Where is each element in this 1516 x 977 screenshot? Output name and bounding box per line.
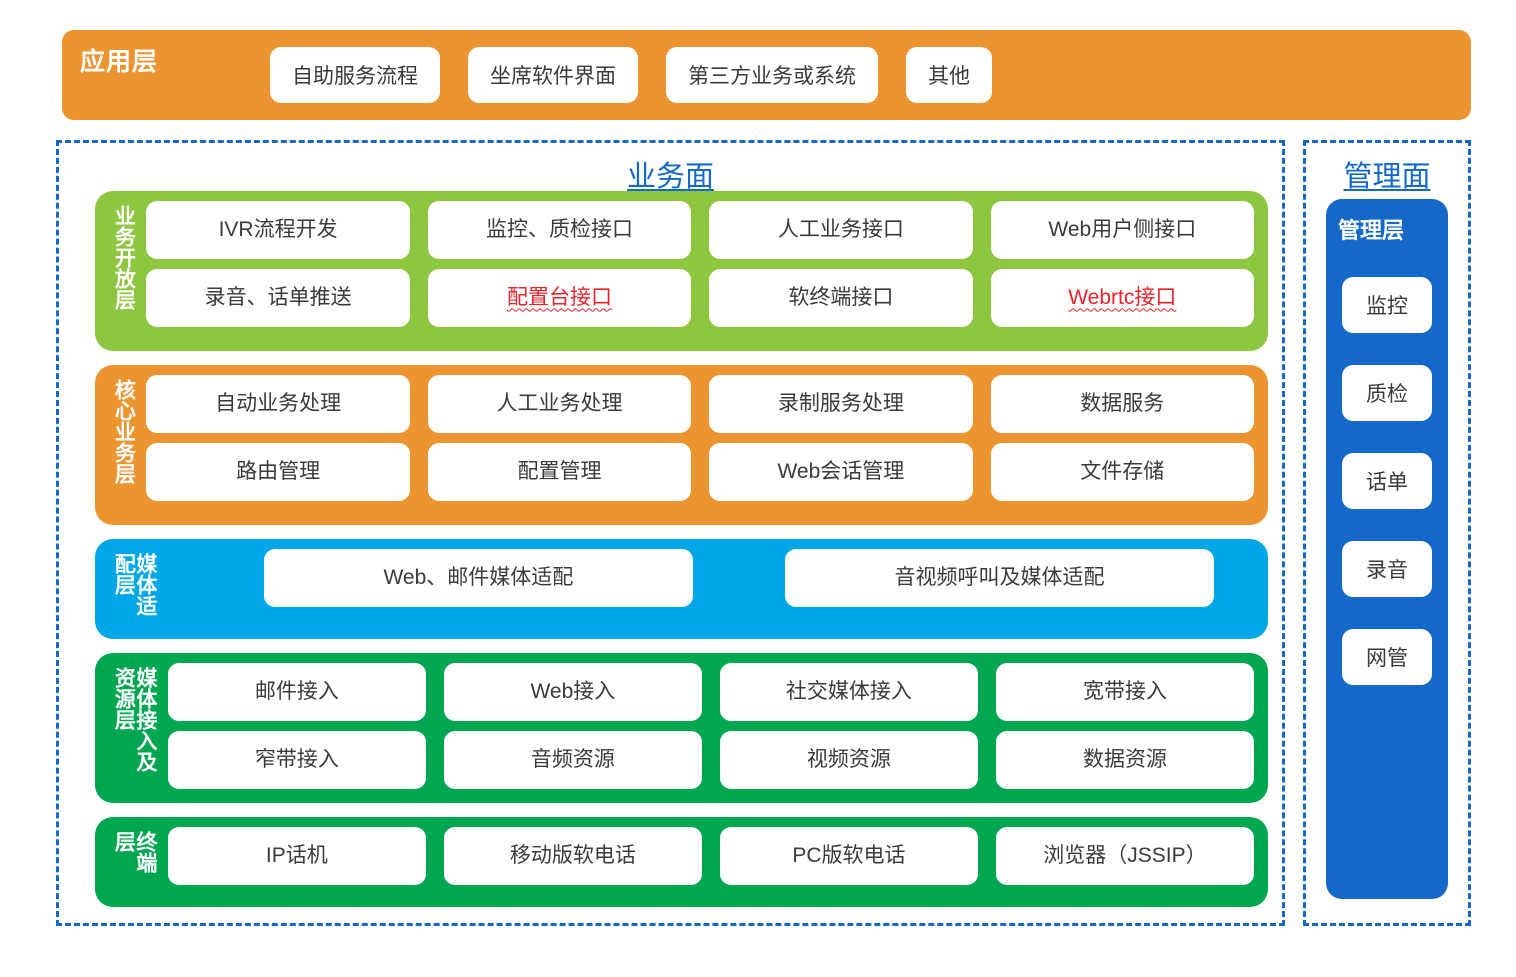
layer-core-business: 核心业务层 自动业务处理 人工业务处理 录制服务处理 数据服务 路由管理 配置管…: [95, 365, 1268, 525]
management-layer-box: 管理层 监控 质检 话单 录音 网管: [1326, 199, 1448, 899]
app-card-self-service[interactable]: 自助服务流程: [270, 47, 440, 103]
application-layer-band: 应用层 自助服务流程 坐席软件界面 第三方业务或系统 其他: [62, 30, 1471, 120]
cell-config-console-api[interactable]: 配置台接口: [428, 269, 691, 327]
cell-ip-phone[interactable]: IP话机: [168, 827, 426, 885]
business-plane-layers: 业务开放层 IVR流程开发 监控、质检接口 人工业务接口 Web用户侧接口 录音…: [95, 191, 1268, 907]
mgmt-item-recording[interactable]: 录音: [1342, 541, 1432, 597]
cell-web-mail-media-adaptation[interactable]: Web、邮件媒体适配: [264, 549, 693, 607]
cell-broadband-access[interactable]: 宽带接入: [996, 663, 1254, 721]
cell-recording-cdr-push[interactable]: 录音、话单推送: [146, 269, 409, 327]
cell-narrowband-access[interactable]: 窄带接入: [168, 731, 426, 789]
cell-social-media-access[interactable]: 社交媒体接入: [720, 663, 978, 721]
application-layer-cards: 自助服务流程 坐席软件界面 第三方业务或系统 其他: [270, 47, 992, 103]
app-card-other[interactable]: 其他: [906, 47, 992, 103]
management-plane-title: 管理面: [1306, 153, 1468, 195]
layer-label-terminal: 终端层: [103, 827, 162, 897]
cell-mobile-softphone[interactable]: 移动版软电话: [444, 827, 702, 885]
cell-monitor-qc-api[interactable]: 监控、质检接口: [428, 201, 691, 259]
management-items-list: 监控 质检 话单 录音 网管: [1326, 277, 1448, 685]
cell-pc-softphone[interactable]: PC版软电话: [720, 827, 978, 885]
cell-config-management[interactable]: 配置管理: [428, 443, 691, 501]
cell-data-resource[interactable]: 数据资源: [996, 731, 1254, 789]
layer-label-core-business: 核心业务层: [103, 375, 140, 515]
mgmt-item-cdr[interactable]: 话单: [1342, 453, 1432, 509]
layer-terminal: 终端层 IP话机 移动版软电话 PC版软电话 浏览器（JSSIP）: [95, 817, 1268, 907]
layer-media-adaptation: 媒体适配层 Web、邮件媒体适配 音视频呼叫及媒体适配: [95, 539, 1268, 639]
layer-grid-media-adaptation: Web、邮件媒体适配 音视频呼叫及媒体适配: [168, 549, 1254, 629]
cell-auto-business-process[interactable]: 自动业务处理: [146, 375, 409, 433]
application-layer-title: 应用层: [80, 42, 230, 78]
cell-mail-access[interactable]: 邮件接入: [168, 663, 426, 721]
app-card-agent-ui[interactable]: 坐席软件界面: [468, 47, 638, 103]
management-plane: 管理面 管理层 监控 质检 话单 录音 网管: [1303, 140, 1471, 926]
cell-manual-business-process[interactable]: 人工业务处理: [428, 375, 691, 433]
cell-web-user-side-api[interactable]: Web用户侧接口: [991, 201, 1254, 259]
cell-recording-service-process[interactable]: 录制服务处理: [709, 375, 972, 433]
layer-grid-terminal: IP话机 移动版软电话 PC版软电话 浏览器（JSSIP）: [168, 827, 1254, 897]
mgmt-item-quality-check[interactable]: 质检: [1342, 365, 1432, 421]
cell-av-call-media-adaptation[interactable]: 音视频呼叫及媒体适配: [785, 549, 1214, 607]
business-plane: 业务面 业务开放层 IVR流程开发 监控、质检接口 人工业务接口 Web用户侧接…: [56, 140, 1285, 926]
app-card-third-party[interactable]: 第三方业务或系统: [666, 47, 878, 103]
cell-webrtc-api[interactable]: Webrtc接口: [991, 269, 1254, 327]
cell-data-service[interactable]: 数据服务: [991, 375, 1254, 433]
layer-service-open: 业务开放层 IVR流程开发 监控、质检接口 人工业务接口 Web用户侧接口 录音…: [95, 191, 1268, 351]
cell-audio-resource[interactable]: 音频资源: [444, 731, 702, 789]
layer-label-service-open: 业务开放层: [103, 201, 140, 341]
layer-label-media-access-resource: 媒体接入及资源层: [103, 663, 162, 793]
cell-ivr-flow-dev[interactable]: IVR流程开发: [146, 201, 409, 259]
cell-browser-jssip[interactable]: 浏览器（JSSIP）: [996, 827, 1254, 885]
mgmt-item-monitoring[interactable]: 监控: [1342, 277, 1432, 333]
cell-manual-business-api[interactable]: 人工业务接口: [709, 201, 972, 259]
cell-file-storage[interactable]: 文件存储: [991, 443, 1254, 501]
layer-media-access-resource: 媒体接入及资源层 邮件接入 Web接入 社交媒体接入 宽带接入 窄带接入 音频资…: [95, 653, 1268, 803]
cell-video-resource[interactable]: 视频资源: [720, 731, 978, 789]
cell-web-access[interactable]: Web接入: [444, 663, 702, 721]
cell-soft-terminal-api[interactable]: 软终端接口: [709, 269, 972, 327]
layer-grid-service-open: IVR流程开发 监控、质检接口 人工业务接口 Web用户侧接口 录音、话单推送 …: [146, 201, 1254, 341]
mgmt-item-network-management[interactable]: 网管: [1342, 629, 1432, 685]
layer-label-media-adaptation: 媒体适配层: [103, 549, 162, 629]
layer-grid-media-access-resource: 邮件接入 Web接入 社交媒体接入 宽带接入 窄带接入 音频资源 视频资源 数据…: [168, 663, 1254, 793]
layer-grid-core-business: 自动业务处理 人工业务处理 录制服务处理 数据服务 路由管理 配置管理 Web会…: [146, 375, 1254, 515]
business-plane-title: 业务面: [59, 153, 1282, 195]
cell-web-session-management[interactable]: Web会话管理: [709, 443, 972, 501]
cell-route-management[interactable]: 路由管理: [146, 443, 409, 501]
management-layer-title: 管理层: [1338, 213, 1448, 245]
